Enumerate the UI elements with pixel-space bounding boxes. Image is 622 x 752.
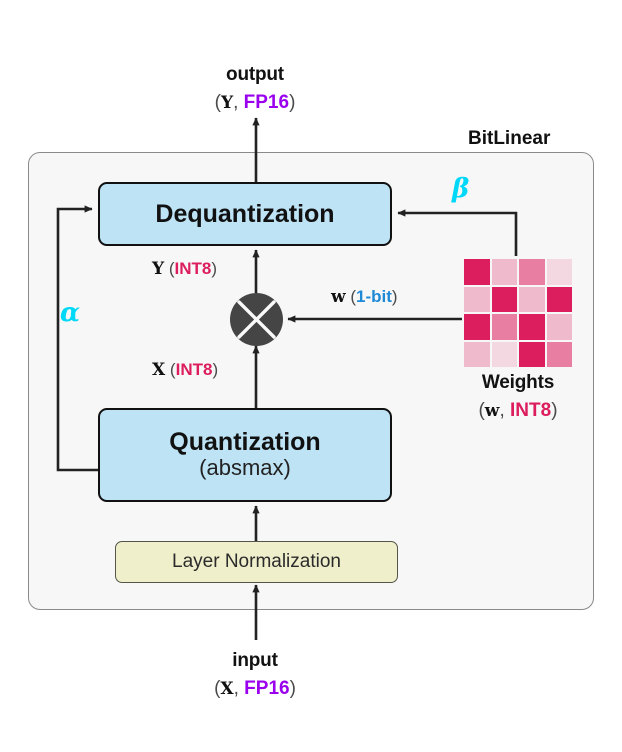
w-open-paren: ( — [346, 287, 356, 306]
weights-cell-r2-c1 — [492, 314, 518, 340]
weights-cell-r0-c3 — [547, 259, 573, 285]
input-label: input — [0, 650, 510, 672]
weights-cell-r0-c1 — [492, 259, 518, 285]
weights-close-paren: ) — [551, 400, 557, 421]
matmul-cross-icon — [230, 293, 283, 346]
quantization-block[interactable]: Quantization (absmax) — [98, 408, 392, 502]
weights-cell-r3-c1 — [492, 342, 518, 368]
weights-comma: , — [499, 400, 510, 421]
output-dtype: FP16 — [244, 92, 289, 113]
layer-normalization-block[interactable]: Layer Normalization — [115, 541, 398, 583]
x-close-paren: ) — [212, 360, 218, 379]
weights-cell-r0-c2 — [519, 259, 545, 285]
weights-cell-r1-c0 — [464, 287, 490, 313]
input-dtype-line: (X, FP16) — [0, 678, 510, 700]
output-label: output — [0, 64, 510, 86]
beta-label: β — [452, 174, 469, 204]
input-var: X — [220, 679, 233, 699]
input-close-paren: ) — [290, 678, 296, 699]
weights-caption: Weights — [448, 372, 588, 394]
diagram-canvas: output (Y, FP16) BitLinear — [0, 0, 622, 752]
output-close-paren: ) — [289, 92, 295, 113]
weights-cell-r1-c1 — [492, 287, 518, 313]
weights-cell-r0-c0 — [464, 259, 490, 285]
weights-dtype-line: (w, INT8) — [448, 400, 588, 422]
layer-normalization-label: Layer Normalization — [172, 551, 341, 573]
weights-cell-r3-c2 — [519, 342, 545, 368]
edge-label-w-1bit: w (1-bit) — [331, 287, 398, 307]
quantization-title: Quantization — [169, 429, 320, 455]
x-dtype: INT8 — [176, 360, 213, 379]
input-dtype: FP16 — [244, 678, 289, 699]
weights-cell-r2-c2 — [519, 314, 545, 340]
weights-var: w — [485, 401, 500, 421]
w-var: w — [331, 287, 346, 307]
x-var: X — [152, 360, 165, 380]
y-close-paren: ) — [211, 259, 217, 278]
weights-cell-r3-c0 — [464, 342, 490, 368]
w-close-paren: ) — [392, 287, 398, 306]
alpha-label: α — [60, 298, 80, 328]
matmul-node[interactable] — [230, 293, 283, 346]
y-dtype: INT8 — [175, 259, 212, 278]
bitlinear-container-title: BitLinear — [468, 128, 550, 150]
output-comma: , — [233, 92, 244, 113]
y-var: Y — [152, 259, 164, 279]
weights-cell-r3-c3 — [547, 342, 573, 368]
input-comma: , — [234, 678, 245, 699]
output-var: Y — [221, 93, 233, 113]
x-open-paren: ( — [165, 360, 175, 379]
edge-label-y-int8: Y (INT8) — [152, 259, 217, 279]
edge-label-x-int8: X (INT8) — [152, 360, 218, 380]
weights-cell-r2-c3 — [547, 314, 573, 340]
weights-matrix — [464, 259, 572, 367]
dequantization-title: Dequantization — [155, 201, 334, 227]
weights-cell-r2-c0 — [464, 314, 490, 340]
output-dtype-line: (Y, FP16) — [0, 92, 510, 114]
weights-cell-r1-c2 — [519, 287, 545, 313]
dequantization-block[interactable]: Dequantization — [98, 182, 392, 246]
weights-dtype: INT8 — [510, 400, 551, 421]
w-dtype: 1-bit — [356, 287, 392, 306]
y-open-paren: ( — [164, 259, 174, 278]
quantization-subtitle: (absmax) — [199, 455, 291, 480]
weights-cell-r1-c3 — [547, 287, 573, 313]
